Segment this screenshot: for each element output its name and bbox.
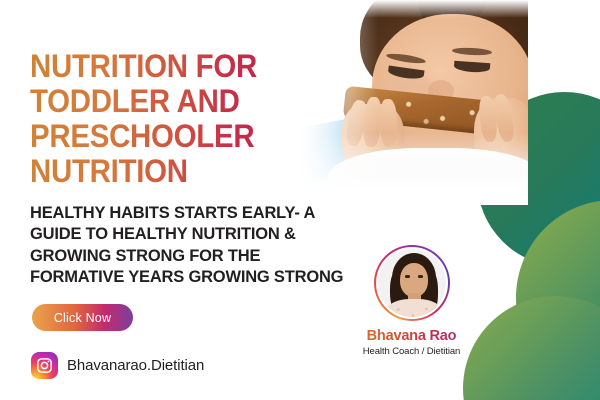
click-now-button[interactable]: Click Now — [32, 304, 133, 331]
avatar-gradient-ring — [374, 245, 450, 321]
instagram-row[interactable]: Bhavanarao.Dietitian — [31, 352, 204, 379]
hero-photo-toddler-eating-bread — [268, 0, 528, 205]
presenter-block: Bhavana Rao Health Coach / Dietitian — [344, 245, 479, 357]
presenter-name: Bhavana Rao — [344, 328, 479, 344]
subheading: HEALTHY HABITS STARTS EARLY- A GUIDE TO … — [30, 203, 350, 289]
avatar-face — [400, 263, 428, 297]
photo-fade-bottom — [268, 133, 528, 205]
avatar-eye-right — [418, 275, 423, 278]
promo-banner: NUTRITION FOR TODDLER AND PRESCHOOLER NU… — [0, 0, 600, 400]
instagram-icon[interactable] — [31, 352, 58, 379]
avatar-eye-left — [405, 275, 410, 278]
decorative-circle-bottom — [463, 296, 600, 400]
avatar-body — [386, 299, 442, 319]
headline: NUTRITION FOR TODDLER AND PRESCHOOLER NU… — [30, 49, 288, 189]
instagram-handle[interactable]: Bhavanarao.Dietitian — [67, 357, 204, 374]
hero-photo-inner — [268, 0, 528, 205]
presenter-title: Health Coach / Dietitian — [344, 346, 479, 357]
avatar — [376, 247, 448, 319]
avatar-body-pattern — [386, 299, 442, 319]
